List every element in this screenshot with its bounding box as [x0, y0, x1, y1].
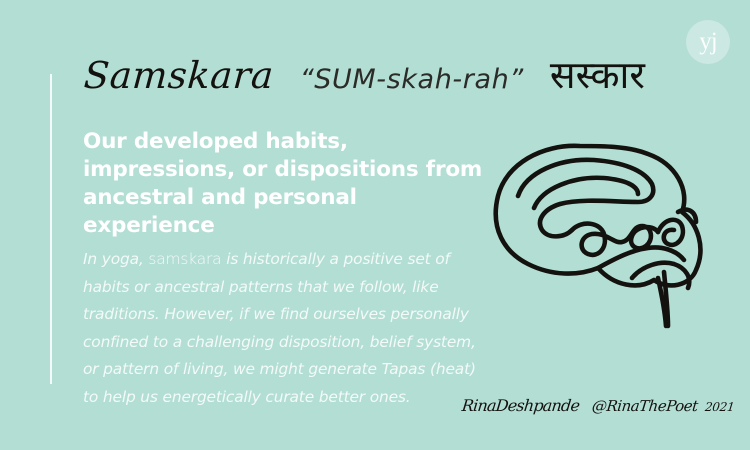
vertical-divider: [50, 74, 52, 384]
brain-svg: [482, 140, 722, 330]
definition-headline: Our developed habits, impressions, or di…: [83, 128, 493, 240]
samskara-definition-card: yj Samskara “SUM-skah-rah” सस्कार Our de…: [0, 0, 750, 450]
signature-year: 2021: [704, 400, 735, 414]
signature-author: RinaDeshpande: [461, 396, 580, 415]
yoga-journal-logo-badge: yj: [686, 20, 730, 64]
body-term: samskara: [148, 250, 221, 268]
yj-monogram-icon: yj: [699, 29, 716, 54]
definition-body-text: In yoga, samskara is historically a posi…: [83, 246, 495, 411]
term-word: Samskara: [82, 54, 275, 97]
body-lead: In yoga,: [83, 250, 148, 268]
signature-block: RinaDeshpande @RinaThePoet 2021: [462, 396, 734, 415]
term-devanagari: सस्कार: [550, 48, 645, 100]
brain-line-drawing-icon: [482, 140, 722, 330]
term-title-row: Samskara “SUM-skah-rah” सस्कार: [84, 48, 645, 106]
term-pronunciation: “SUM-skah-rah”: [300, 64, 524, 95]
body-rest: is historically a positive set of habits…: [83, 250, 476, 406]
signature-handle: @RinaThePoet: [591, 397, 699, 415]
